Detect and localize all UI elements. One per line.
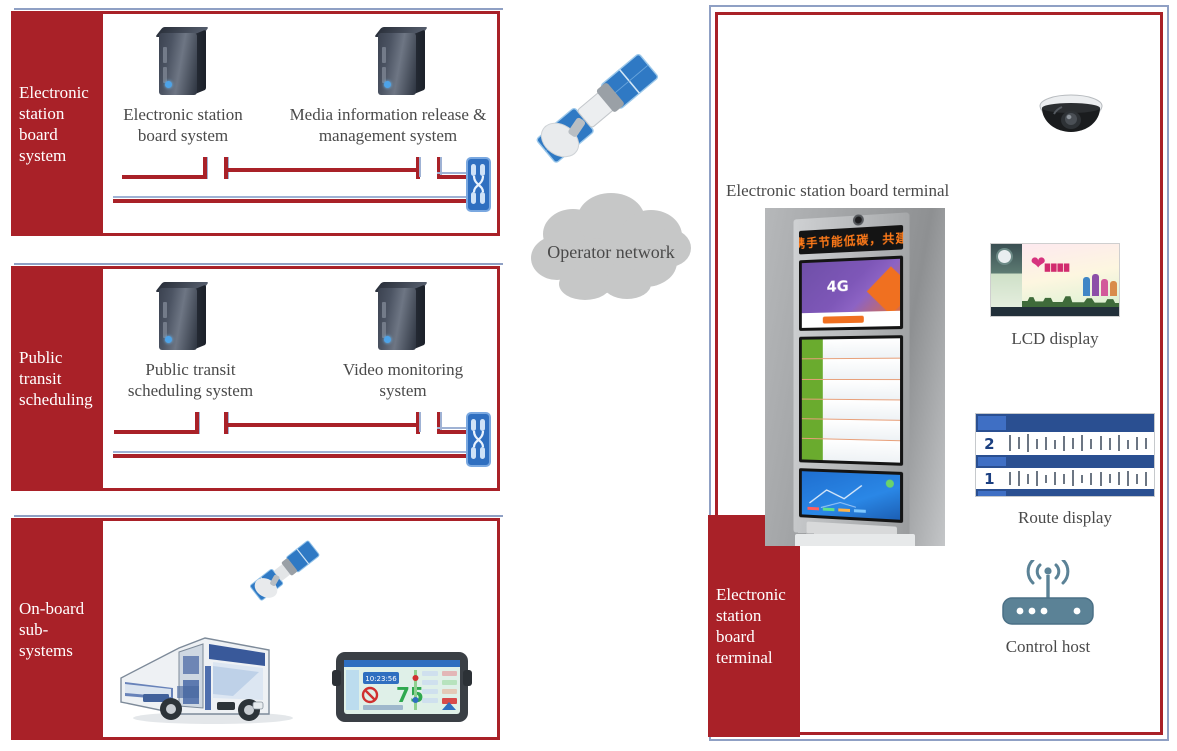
lcd-ad-text: ████ — [1045, 264, 1071, 272]
network-switch-icon — [466, 157, 491, 212]
lcd-figure — [1092, 274, 1099, 296]
kiosk-route-body — [823, 338, 900, 358]
kiosk-ad-accent — [867, 266, 903, 315]
kiosk-route-tag — [802, 339, 823, 358]
kiosk-route-body — [823, 399, 900, 419]
redlabel-text: On-board sub-systems — [19, 598, 95, 661]
route-display-row-number: 2 — [976, 432, 1003, 455]
kiosk-route-list — [799, 335, 903, 466]
redlabel-electronic-station-board-terminal: Electronic station board terminal — [708, 515, 800, 737]
kiosk-map-panel — [799, 468, 903, 523]
network-switch-icon — [466, 412, 491, 467]
server-tower-icon — [153, 282, 211, 354]
panel-top-accent-line — [14, 515, 503, 517]
obu-time-text: 10:23:56 — [365, 675, 397, 683]
kiosk-route-tag — [802, 419, 823, 438]
caption-kiosk-terminal: Electronic station board terminal — [726, 180, 986, 201]
operator-network-label: Operator network — [527, 242, 695, 263]
kiosk-route-row — [802, 379, 900, 400]
right-panel-right-accent-line — [1167, 5, 1169, 741]
tower-led-icon — [384, 81, 391, 88]
redlabel-text: Electronic station board system — [19, 82, 95, 166]
architecture-diagram: Electronic station board system Electron… — [0, 0, 1177, 751]
kiosk-route-body — [823, 359, 900, 379]
kiosk-route-body — [823, 420, 900, 441]
kiosk-route-body — [823, 440, 900, 463]
lcd-display-icon: ❤ ████ — [990, 243, 1120, 317]
kiosk-route-row — [802, 338, 900, 359]
server-tower-icon — [153, 27, 211, 99]
kiosk-route-tag — [802, 379, 823, 398]
lcd-figure — [1101, 279, 1108, 296]
satellite-icon — [522, 30, 672, 190]
connector-horizontal — [122, 175, 207, 179]
panel-top-accent-line — [14, 263, 503, 265]
route-display-row-number: 1 — [976, 468, 1003, 489]
satellite-icon — [242, 528, 328, 614]
kiosk-cabinet: 携手节能低碳，共建 4G — [793, 212, 909, 539]
kiosk-route-row — [802, 419, 900, 441]
tower-led-icon — [165, 81, 172, 88]
kiosk-ad-text: 4G — [827, 277, 849, 296]
tower-slot — [163, 47, 167, 63]
server-tower-icon — [372, 282, 430, 354]
connector-accent — [113, 451, 473, 453]
kiosk-ad-footer-badge — [823, 316, 864, 323]
caption-route-display: Route display — [995, 507, 1135, 528]
lcd-figure — [1083, 277, 1090, 296]
caption-lcd-display: LCD display — [985, 328, 1125, 349]
redlabel-public-transit-scheduling: Public transit scheduling — [11, 269, 103, 488]
bus-icon — [113, 626, 303, 726]
on-board-terminal-icon: 10:23:56 75 — [332, 648, 472, 726]
route-display-badge — [978, 491, 1006, 497]
route-display-header — [976, 414, 1154, 432]
lcd-heart-icon: ❤ — [1031, 253, 1046, 274]
kiosk-route-row — [802, 359, 900, 380]
panel-top-accent-line — [14, 8, 503, 10]
router-icon — [993, 560, 1103, 632]
connector-accent — [419, 412, 421, 432]
tower-slot — [163, 302, 167, 318]
kiosk-camera-icon — [853, 214, 864, 226]
redlabel-text: Public transit scheduling — [19, 347, 95, 410]
route-display-ticks — [1003, 432, 1154, 455]
route-display-badge — [978, 416, 1006, 430]
kiosk-route-tag — [802, 359, 823, 378]
redlabel-electronic-station-board-system: Electronic station board system — [11, 14, 103, 233]
route-display-divider — [976, 455, 1154, 468]
route-display-row: 1 — [976, 468, 1154, 489]
kiosk-route-row — [802, 439, 900, 462]
server-tower-icon — [372, 27, 430, 99]
connector-accent — [419, 157, 421, 177]
connector-accent — [113, 196, 473, 198]
route-display-badge — [978, 457, 1006, 466]
route-display-footer — [976, 489, 1154, 497]
tower-led-icon — [165, 336, 172, 343]
lcd-figure — [1110, 281, 1117, 296]
redlabel-text: Electronic station board terminal — [716, 584, 792, 668]
dome-camera-icon — [1038, 90, 1104, 144]
route-display-icon: 2 1 — [975, 413, 1155, 497]
tower-slot — [382, 47, 386, 63]
kiosk-led-ticker: 携手节能低碳，共建 — [799, 225, 903, 255]
connector-horizontal — [224, 168, 420, 172]
caption-public-transit-scheduling-system-node: Public transit scheduling system — [108, 359, 273, 401]
tower-slot — [382, 302, 386, 318]
kiosk-ad-footer — [802, 311, 900, 328]
obu-speed-text: 75 — [396, 683, 424, 707]
connector-horizontal — [114, 430, 199, 434]
connector-bus-line — [113, 199, 475, 203]
route-display-ticks — [1003, 468, 1154, 489]
right-panel-bottom-accent-line — [709, 739, 1169, 741]
redlabel-on-board-sub-systems: On-board sub-systems — [11, 521, 103, 737]
kiosk-route-body — [823, 379, 900, 399]
caption-electronic-station-board-system-node: Electronic station board system — [108, 104, 258, 146]
operator-network-cloud: Operator network — [527, 186, 695, 302]
caption-video-monitoring-system-node: Video monitoring system — [328, 359, 478, 401]
kiosk-ad-panel: 4G — [799, 256, 903, 331]
kiosk-route-tag — [802, 439, 823, 460]
kiosk-route-row — [802, 399, 900, 421]
kiosk-icon: 携手节能低碳，共建 4G — [765, 208, 945, 546]
caption-media-information-release-management-system-node: Media information release & management s… — [278, 104, 498, 146]
kiosk-ticker-text: 携手节能低碳，共建 — [799, 228, 903, 251]
tower-led-icon — [384, 336, 391, 343]
kiosk-route-tag — [802, 399, 823, 418]
connector-bus-line — [113, 454, 475, 458]
route-display-row: 2 — [976, 432, 1154, 455]
lcd-bottom-bar — [991, 307, 1119, 316]
right-panel-top-accent-line — [709, 5, 1169, 7]
connector-horizontal — [224, 423, 420, 427]
connector-accent — [440, 157, 442, 177]
caption-control-host: Control host — [988, 636, 1108, 657]
connector-accent — [440, 412, 442, 432]
kiosk-floor — [795, 534, 915, 546]
